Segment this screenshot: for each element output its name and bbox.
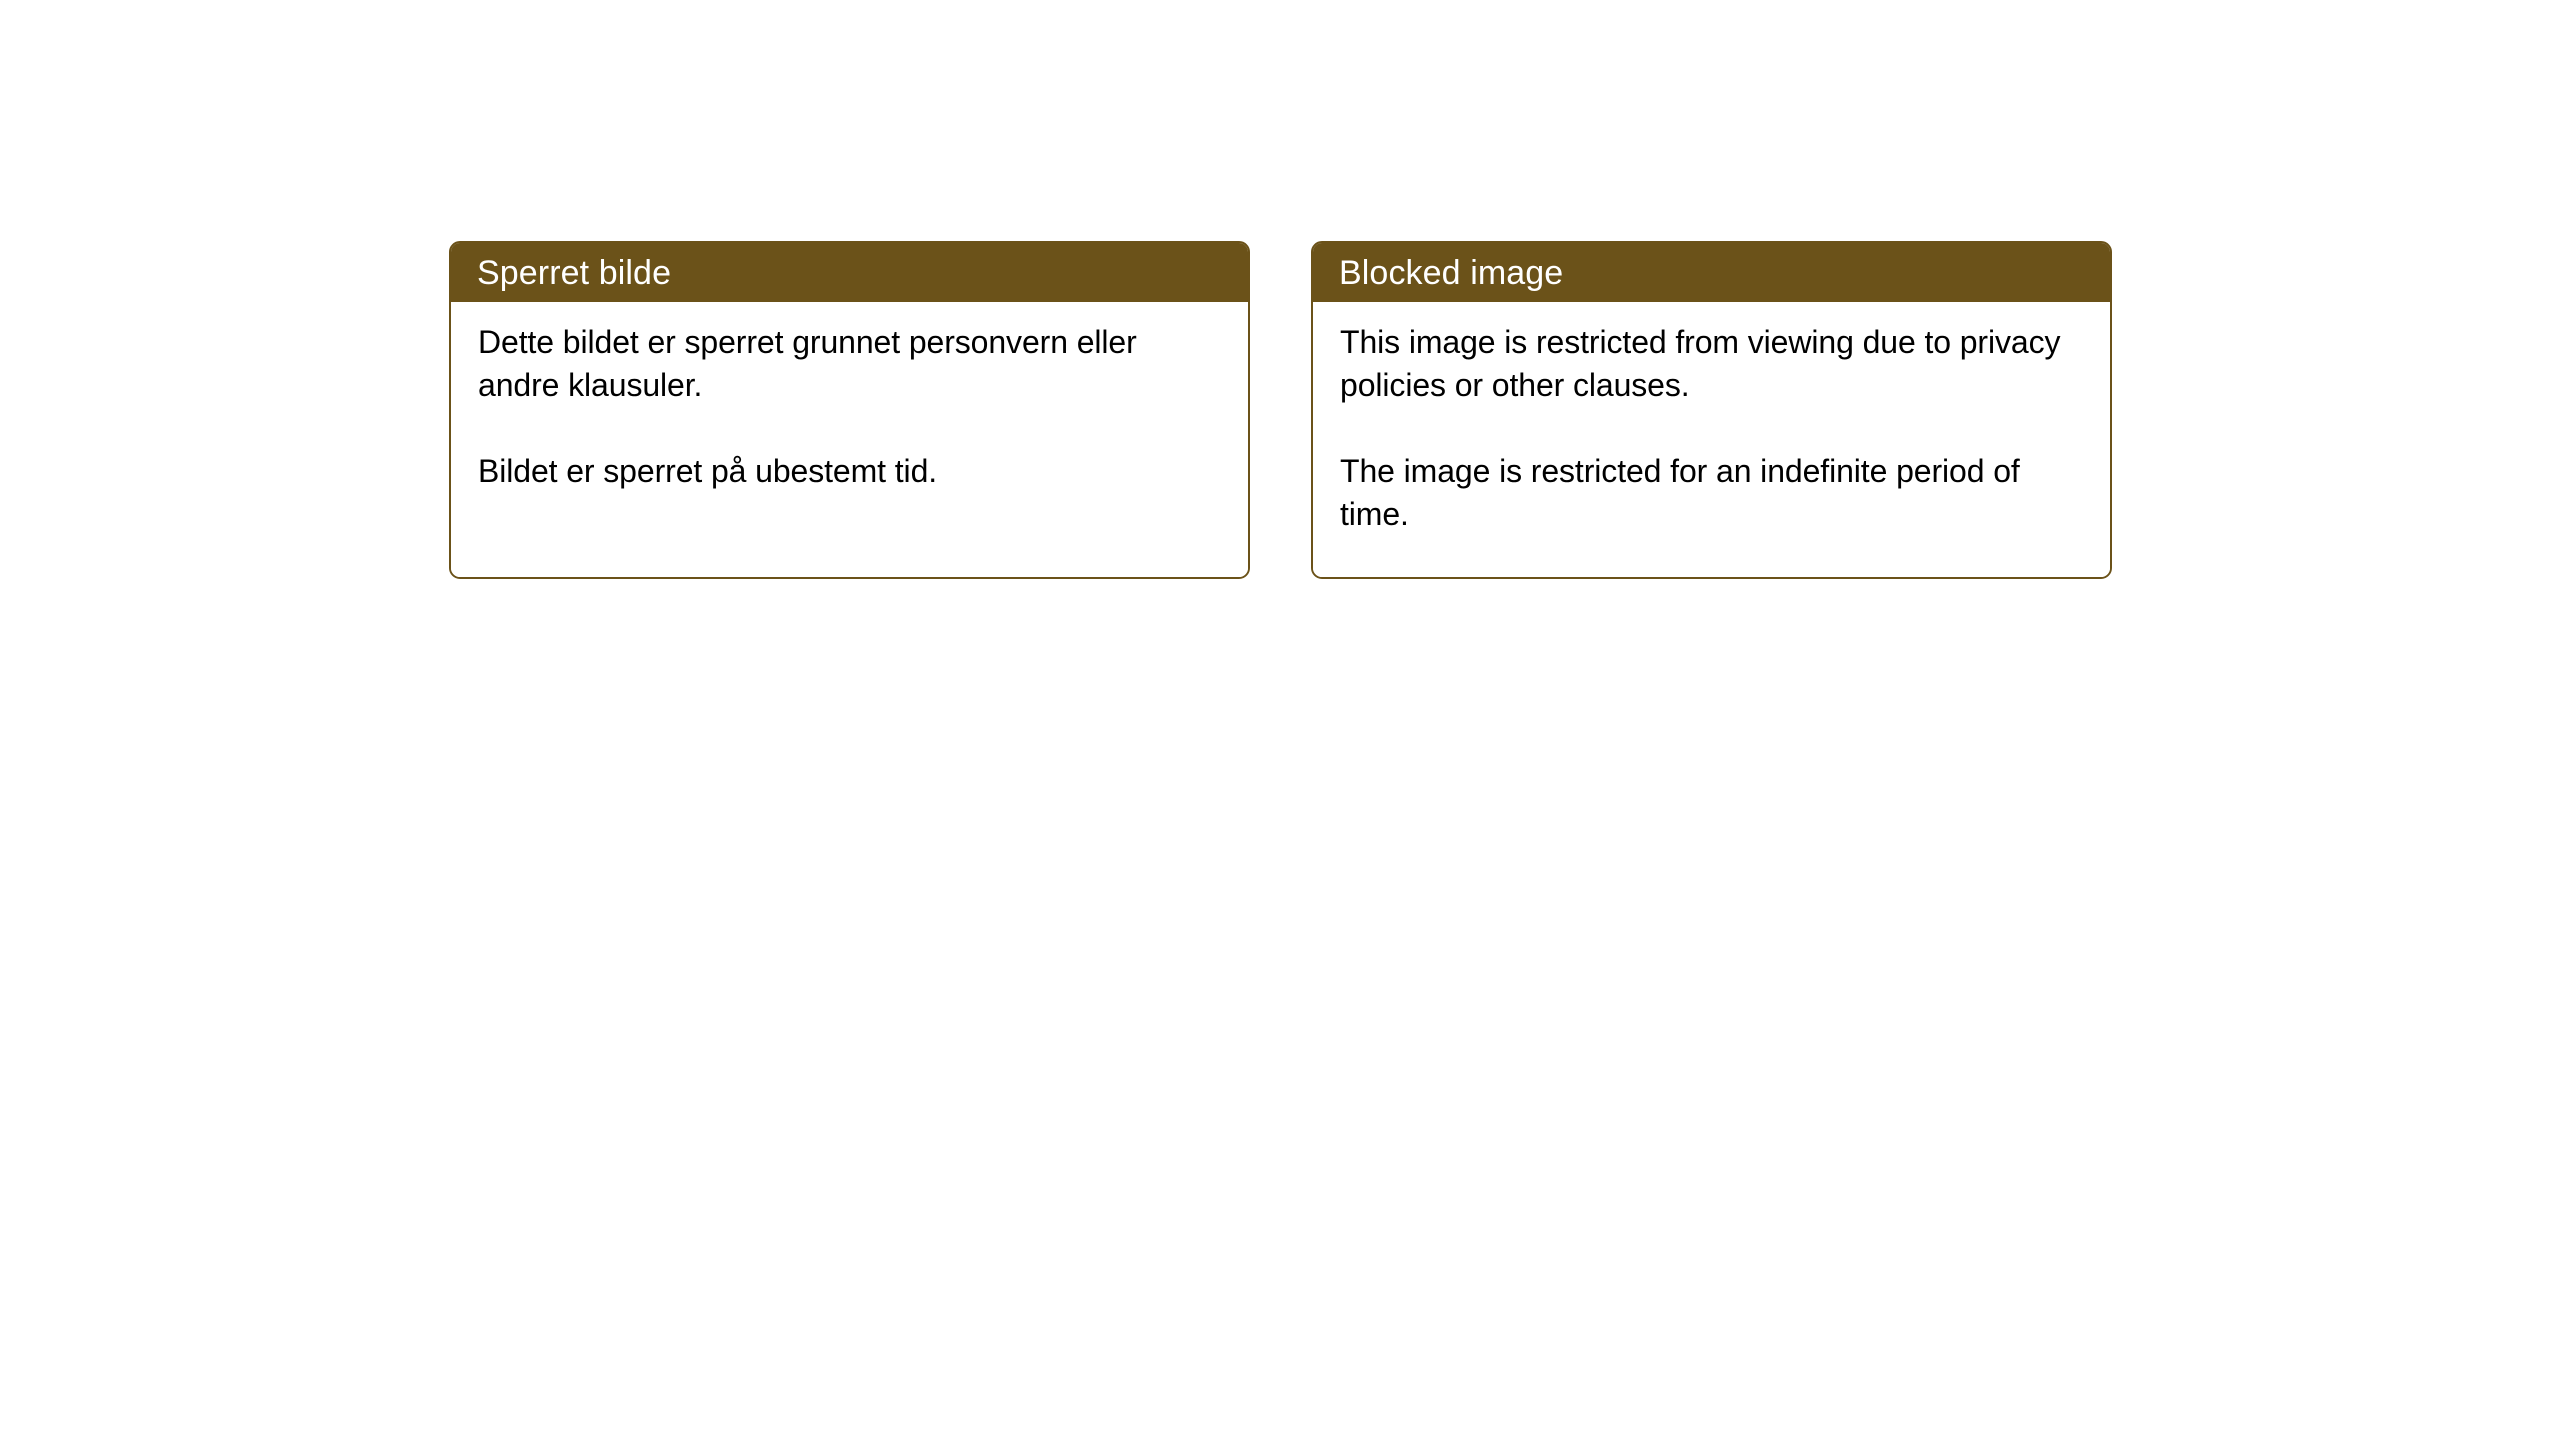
notice-title-norwegian: Sperret bilde xyxy=(477,254,671,292)
notice-paragraph-duration-english: The image is restricted for an indefinit… xyxy=(1340,450,2086,536)
blocked-image-notice-norwegian: Sperret bilde Dette bildet er sperret gr… xyxy=(449,241,1250,579)
notice-title-english: Blocked image xyxy=(1339,254,1563,292)
blocked-image-notice-english: Blocked image This image is restricted f… xyxy=(1311,241,2112,579)
notice-header-norwegian: Sperret bilde xyxy=(451,243,1248,302)
notice-paragraph-duration-norwegian: Bildet er sperret på ubestemt tid. xyxy=(478,450,1224,493)
notice-paragraph-reason-norwegian: Dette bildet er sperret grunnet personve… xyxy=(478,321,1224,407)
notice-body-norwegian: Dette bildet er sperret grunnet personve… xyxy=(451,302,1248,577)
page-canvas: Sperret bilde Dette bildet er sperret gr… xyxy=(0,0,2560,1440)
notice-paragraph-reason-english: This image is restricted from viewing du… xyxy=(1340,321,2086,407)
notice-body-english: This image is restricted from viewing du… xyxy=(1313,302,2110,577)
notice-header-english: Blocked image xyxy=(1313,243,2110,302)
